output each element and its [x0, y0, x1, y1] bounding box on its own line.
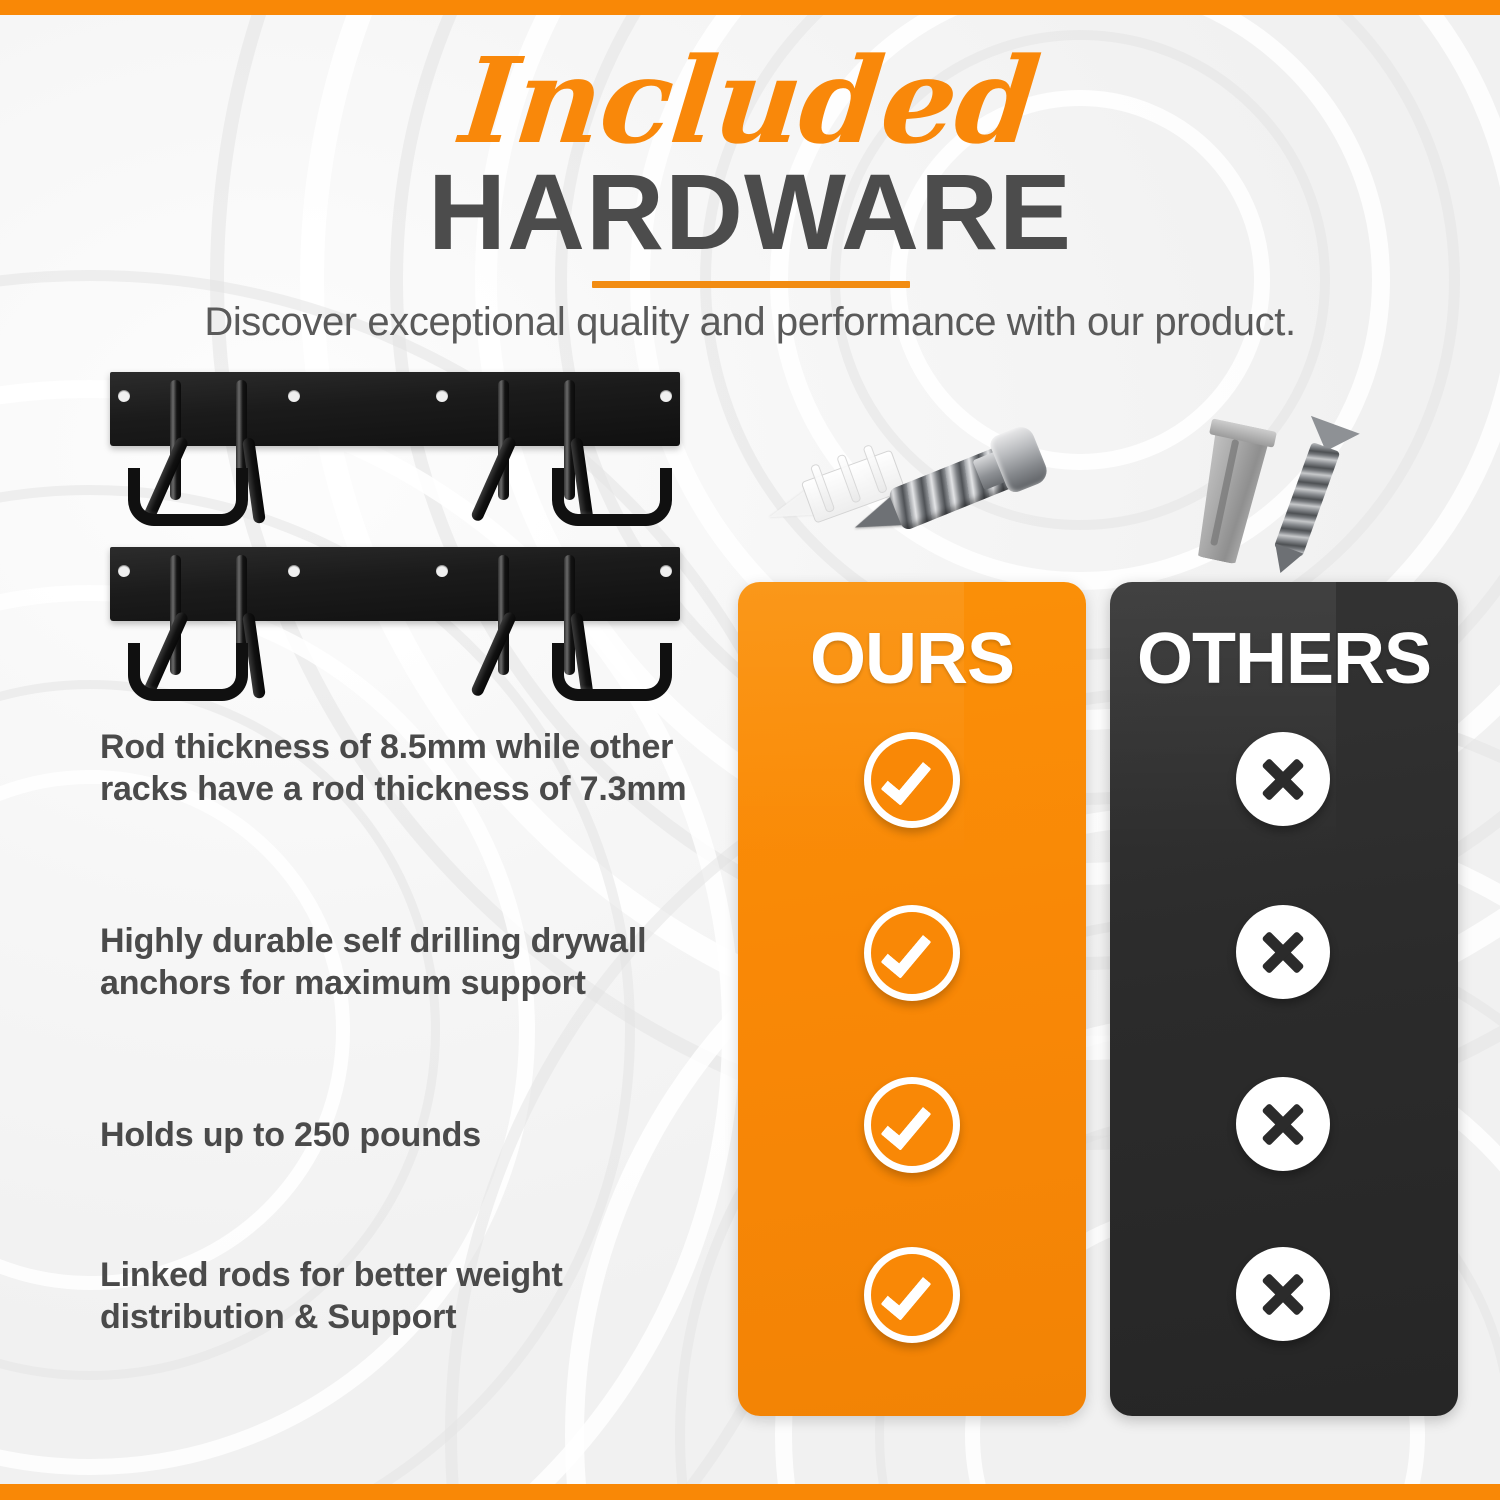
feature-item-weight-capacity: Holds up to 250 pounds	[100, 1114, 710, 1156]
check-mark-1	[864, 732, 960, 828]
cross-mark-2	[1236, 905, 1332, 1001]
bottom-accent-bar	[0, 1484, 1500, 1500]
feature-item-linked-rods: Linked rods for better weight distributi…	[100, 1254, 640, 1338]
cross-mark-3	[1236, 1077, 1332, 1173]
check-icon	[864, 1247, 960, 1343]
feature-item-rod-thickness: Rod thickness of 8.5mm while other racks…	[100, 726, 710, 810]
rack-backplate	[110, 372, 680, 446]
metal-self-drilling-screw-icon	[837, 408, 1059, 574]
panel-title-ours: OURS	[738, 618, 1086, 700]
hardware-image-wall-plug-screw	[1190, 412, 1415, 590]
close-icon	[1236, 1077, 1330, 1171]
close-icon	[1236, 732, 1330, 826]
wall-rack-top	[100, 360, 700, 535]
product-image-racks	[100, 360, 710, 710]
subtitle: Discover exceptional quality and perform…	[0, 300, 1500, 345]
check-icon	[864, 905, 960, 1001]
panel-title-others: OTHERS	[1110, 618, 1458, 700]
comparison-panel-others: OTHERS	[1110, 582, 1458, 1416]
comparison-panel-ours: OURS	[738, 582, 1086, 1416]
hardware-image-drywall-anchor	[762, 420, 1062, 590]
check-mark-4	[864, 1247, 960, 1343]
infographic-page: Included HARDWARE Discover exceptional q…	[0, 0, 1500, 1500]
top-accent-bar	[0, 0, 1500, 15]
page-title: HARDWARE	[0, 158, 1500, 266]
close-icon	[1236, 1247, 1330, 1341]
check-mark-3	[864, 1077, 960, 1173]
rack-backplate	[110, 547, 680, 621]
check-mark-2	[864, 905, 960, 1001]
cross-mark-1	[1236, 732, 1332, 828]
title-underline-rule	[592, 281, 910, 288]
feature-item-drywall-anchors: Highly durable self drilling drywall anc…	[100, 920, 720, 1004]
cross-mark-4	[1236, 1247, 1332, 1343]
check-icon	[864, 732, 960, 828]
close-icon	[1236, 905, 1330, 999]
wall-rack-bottom	[100, 535, 700, 710]
script-title: Included	[0, 42, 1500, 160]
check-icon	[864, 1077, 960, 1173]
